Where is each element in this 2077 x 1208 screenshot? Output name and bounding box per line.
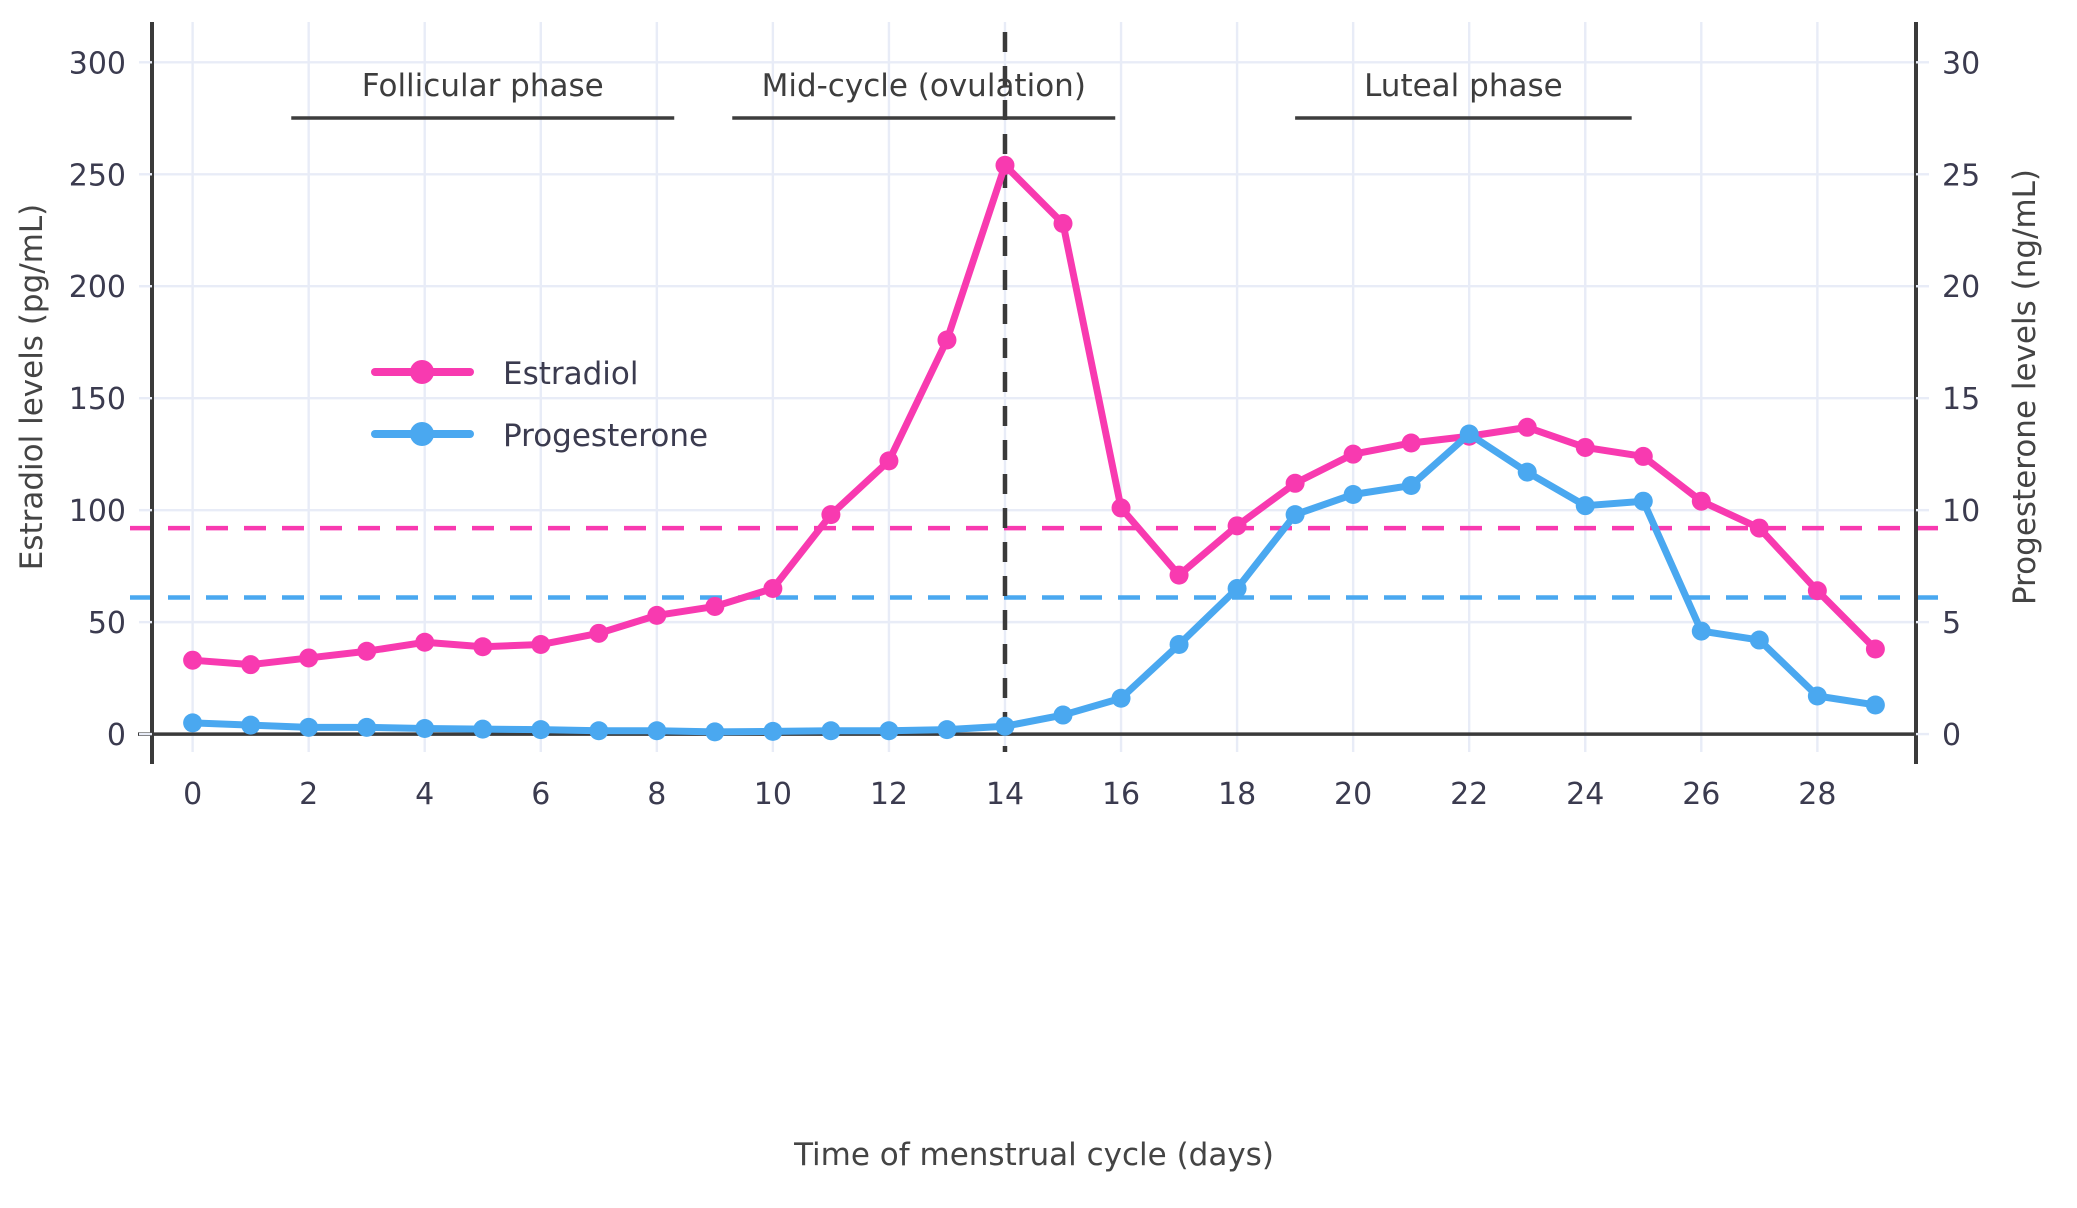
data-point-estradiol <box>1228 516 1247 535</box>
data-point-progesterone <box>1286 505 1305 524</box>
data-point-progesterone <box>1112 689 1131 708</box>
data-point-progesterone <box>1460 425 1479 444</box>
x-tick-label: 26 <box>1682 777 1720 812</box>
chart-background <box>0 0 2077 1208</box>
data-point-progesterone <box>1692 622 1711 641</box>
data-point-estradiol <box>1576 438 1595 457</box>
data-point-progesterone <box>821 721 840 740</box>
data-point-estradiol <box>1112 498 1131 517</box>
data-point-estradiol <box>1344 445 1363 464</box>
x-tick-label: 0 <box>183 777 202 812</box>
y2-tick-label: 10 <box>1942 494 1980 529</box>
data-point-progesterone <box>1518 463 1537 482</box>
data-point-estradiol <box>1634 447 1653 466</box>
x-tick-label: 10 <box>754 777 792 812</box>
data-point-estradiol <box>705 597 724 616</box>
x-tick-label: 16 <box>1102 777 1140 812</box>
x-tick-label: 28 <box>1798 777 1836 812</box>
data-point-progesterone <box>1866 695 1885 714</box>
data-point-estradiol <box>995 156 1014 175</box>
y-tick-label: 50 <box>88 606 126 641</box>
x-tick-label: 14 <box>986 777 1024 812</box>
data-point-progesterone <box>1054 706 1073 725</box>
data-point-estradiol <box>589 624 608 643</box>
menstrual-cycle-hormone-chart: 0246810121416182022242628050100150200250… <box>0 0 2077 1208</box>
data-point-progesterone <box>937 720 956 739</box>
data-point-estradiol <box>531 635 550 654</box>
data-point-estradiol <box>1866 639 1885 658</box>
data-point-progesterone <box>647 721 666 740</box>
data-point-estradiol <box>1692 492 1711 511</box>
data-point-progesterone <box>1402 476 1421 495</box>
y-tick-label: 200 <box>69 270 126 305</box>
data-point-progesterone <box>357 718 376 737</box>
y-tick-label: 250 <box>69 158 126 193</box>
data-point-estradiol <box>1402 433 1421 452</box>
data-point-progesterone <box>1576 496 1595 515</box>
legend-item-label[interactable]: Progesterone <box>503 418 708 454</box>
legend-swatch-marker <box>410 360 434 384</box>
data-point-progesterone <box>473 720 492 739</box>
data-point-progesterone <box>183 713 202 732</box>
y-tick-label: 300 <box>69 46 126 81</box>
data-point-progesterone <box>1344 485 1363 504</box>
data-point-progesterone <box>589 721 608 740</box>
y2-tick-label: 25 <box>1942 158 1980 193</box>
data-point-progesterone <box>995 717 1014 736</box>
y2-axis-title: Progesterone levels (ng/mL) <box>2007 169 2043 605</box>
data-point-progesterone <box>241 716 260 735</box>
data-point-progesterone <box>1634 492 1653 511</box>
y2-tick-label: 0 <box>1942 718 1961 753</box>
x-tick-label: 8 <box>647 777 666 812</box>
x-tick-label: 2 <box>299 777 318 812</box>
y-axis-title: Estradiol levels (pg/mL) <box>14 204 50 571</box>
data-point-estradiol <box>183 651 202 670</box>
x-tick-label: 6 <box>531 777 550 812</box>
data-point-estradiol <box>763 579 782 598</box>
data-point-progesterone <box>299 718 318 737</box>
y2-tick-label: 15 <box>1942 382 1980 417</box>
data-point-progesterone <box>531 720 550 739</box>
data-point-progesterone <box>1808 687 1827 706</box>
legend-item-label[interactable]: Estradiol <box>503 356 639 392</box>
y-tick-label: 150 <box>69 382 126 417</box>
data-point-estradiol <box>357 642 376 661</box>
y-tick-label: 0 <box>107 718 126 753</box>
data-point-progesterone <box>705 722 724 741</box>
data-point-estradiol <box>821 505 840 524</box>
phase-annotation-label: Mid-cycle (ovulation) <box>762 68 1086 104</box>
y2-tick-label: 30 <box>1942 46 1980 81</box>
legend-swatch-marker <box>410 422 434 446</box>
data-point-estradiol <box>415 633 434 652</box>
data-point-progesterone <box>415 719 434 738</box>
data-point-estradiol <box>1286 474 1305 493</box>
data-point-estradiol <box>1054 214 1073 233</box>
y2-tick-label: 20 <box>1942 270 1980 305</box>
data-point-estradiol <box>879 451 898 470</box>
data-point-estradiol <box>473 637 492 656</box>
x-tick-label: 22 <box>1450 777 1488 812</box>
data-point-estradiol <box>1750 519 1769 538</box>
data-point-progesterone <box>763 722 782 741</box>
data-point-estradiol <box>299 648 318 667</box>
x-tick-label: 18 <box>1218 777 1256 812</box>
x-axis-title: Time of menstrual cycle (days) <box>793 1137 1274 1173</box>
data-point-estradiol <box>1170 566 1189 585</box>
x-tick-label: 12 <box>870 777 908 812</box>
data-point-estradiol <box>241 655 260 674</box>
data-point-estradiol <box>1808 581 1827 600</box>
y-tick-label: 100 <box>69 494 126 529</box>
data-point-progesterone <box>1170 635 1189 654</box>
data-point-estradiol <box>647 606 666 625</box>
x-tick-label: 24 <box>1566 777 1604 812</box>
x-tick-label: 4 <box>415 777 434 812</box>
phase-annotation-label: Follicular phase <box>362 68 604 104</box>
data-point-progesterone <box>879 721 898 740</box>
data-point-estradiol <box>937 330 956 349</box>
data-point-progesterone <box>1750 631 1769 650</box>
x-tick-label: 20 <box>1334 777 1372 812</box>
phase-annotation-label: Luteal phase <box>1364 68 1563 104</box>
data-point-progesterone <box>1228 579 1247 598</box>
data-point-estradiol <box>1518 418 1537 437</box>
y2-tick-label: 5 <box>1942 606 1961 641</box>
